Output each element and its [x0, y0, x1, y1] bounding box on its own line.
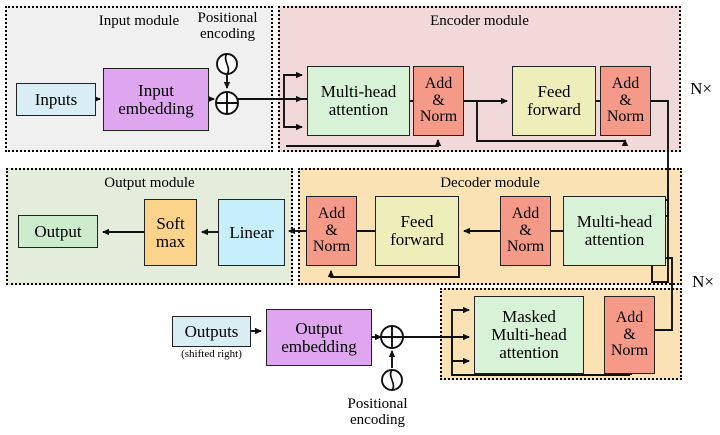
- label-shifted-right: (shifted right): [172, 349, 251, 361]
- transformer-architecture-diagram: Input module Encoder module Output modul…: [0, 0, 720, 435]
- positional-encoding-sine-bottom: [380, 368, 404, 392]
- label-positional-encoding-bottom: Positionalencoding: [330, 396, 425, 428]
- box-inputs: Inputs: [16, 83, 96, 116]
- box-enc-addnorm-1: Add&Norm: [413, 66, 464, 136]
- box-dec-addnorm-3: Add&Norm: [604, 296, 655, 374]
- box-masked-multihead-attention: MaskedMulti-headattention: [474, 296, 584, 374]
- box-label-outputs: Outputs: [173, 323, 250, 341]
- box-label-enc-addnorm-1: Add&Norm: [414, 76, 463, 126]
- box-label-dec-addnorm-2: Add&Norm: [501, 206, 550, 256]
- box-input-embedding: Inputembedding: [103, 68, 209, 131]
- box-label-softmax: Softmax: [145, 215, 196, 251]
- box-enc-addnorm-2: Add&Norm: [600, 66, 651, 136]
- output-sum: [379, 324, 405, 350]
- box-label-dec-multihead-attention: Multi-headattention: [564, 213, 665, 249]
- box-output-box: Output: [18, 215, 98, 248]
- label-positional-encoding-top: Positionalencoding: [180, 10, 275, 42]
- label-decoder-repeat: N×: [688, 273, 718, 291]
- box-softmax: Softmax: [144, 199, 197, 266]
- box-dec-addnorm-2: Add&Norm: [500, 196, 551, 266]
- box-output-embedding: Outputembedding: [266, 309, 372, 366]
- box-label-inputs: Inputs: [17, 91, 95, 109]
- box-outputs: Outputs: [172, 316, 251, 347]
- box-dec-multihead-attention: Multi-headattention: [563, 196, 666, 266]
- box-label-enc-addnorm-2: Add&Norm: [601, 76, 650, 126]
- box-label-dec-addnorm-3: Add&Norm: [605, 310, 654, 360]
- label-encoder-repeat: N×: [686, 80, 716, 98]
- positional-encoding-sine-top: [215, 52, 239, 76]
- box-label-enc-multihead-attention: Multi-headattention: [308, 83, 409, 119]
- box-label-enc-feed-forward: Feedforward: [513, 83, 595, 119]
- box-label-masked-multihead-attention: MaskedMulti-headattention: [475, 308, 583, 362]
- box-dec-addnorm-1: Add&Norm: [306, 196, 357, 266]
- box-label-output-box: Output: [19, 223, 97, 241]
- box-label-input-embedding: Inputembedding: [104, 82, 208, 118]
- box-label-linear: Linear: [219, 224, 284, 242]
- box-enc-multihead-attention: Multi-headattention: [307, 66, 410, 136]
- box-enc-feed-forward: Feedforward: [512, 66, 596, 136]
- box-linear: Linear: [218, 199, 285, 266]
- box-label-output-embedding: Outputembedding: [267, 320, 371, 356]
- box-dec-feed-forward: Feedforward: [375, 196, 459, 266]
- box-label-dec-feed-forward: Feedforward: [376, 213, 458, 249]
- box-label-dec-addnorm-1: Add&Norm: [307, 206, 356, 256]
- input-sum: [214, 90, 240, 116]
